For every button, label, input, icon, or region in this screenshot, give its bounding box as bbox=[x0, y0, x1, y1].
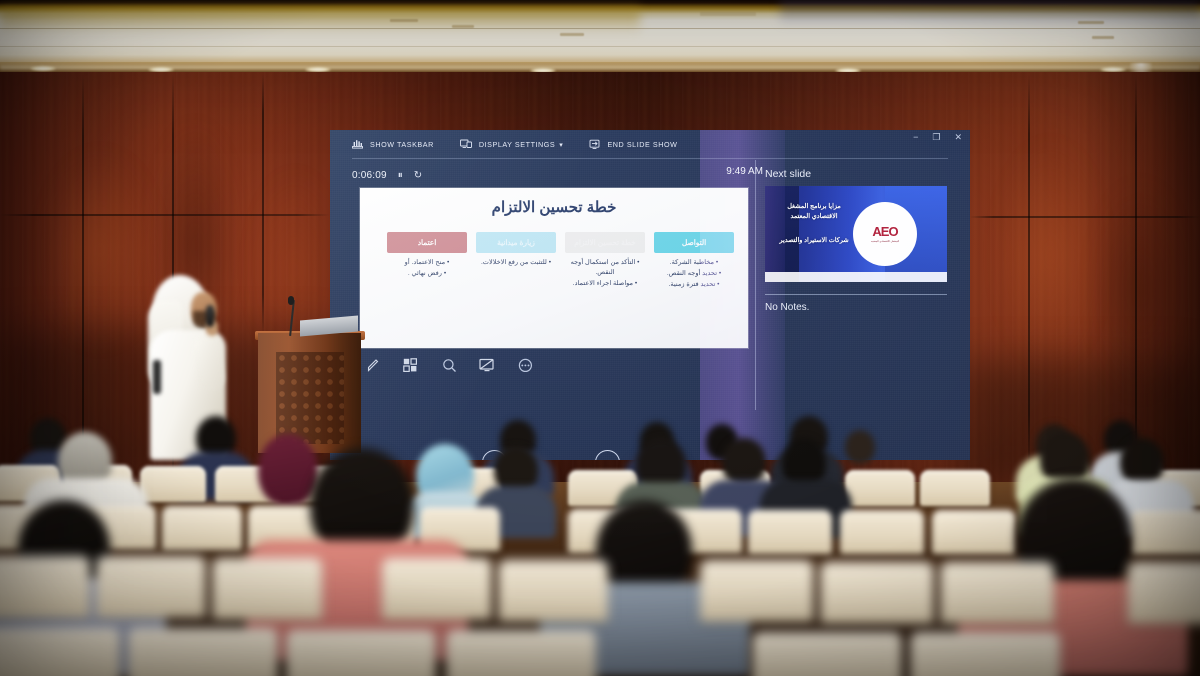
show-taskbar-label: SHOW TASKBAR bbox=[370, 140, 434, 149]
seat bbox=[748, 510, 832, 554]
seat bbox=[0, 556, 90, 618]
column-header: خطة تحسين الالتزام bbox=[565, 232, 645, 253]
column-header: التواصل bbox=[654, 232, 734, 253]
thumb-footer-band bbox=[765, 272, 947, 282]
timer-row: 0:06:09 ⏸ ↻ 9:49 AM bbox=[352, 166, 948, 184]
seat bbox=[820, 562, 934, 624]
current-slide[interactable]: خطة تحسين الالتزام التواصل مخاطبة الشركة… bbox=[360, 188, 748, 348]
seat bbox=[700, 560, 814, 622]
seat bbox=[920, 470, 990, 506]
seat bbox=[162, 506, 242, 550]
bullet: منح الاعتماد. أو bbox=[387, 258, 467, 268]
end-show-icon bbox=[589, 139, 600, 150]
pen-icon[interactable] bbox=[366, 358, 381, 373]
seat bbox=[910, 632, 1060, 676]
seat bbox=[940, 562, 1054, 624]
show-taskbar-button[interactable]: SHOW TASKBAR bbox=[352, 139, 434, 149]
magnify-icon[interactable] bbox=[442, 358, 457, 373]
ceiling-seam bbox=[0, 28, 1200, 29]
next-slide-line2: شركات الاستيراد والتصدير bbox=[777, 236, 851, 246]
close-button[interactable]: ✕ bbox=[954, 133, 962, 142]
ceiling-slot bbox=[1078, 21, 1104, 24]
seat bbox=[0, 628, 120, 676]
restore-button[interactable]: ❐ bbox=[932, 133, 940, 142]
seat bbox=[840, 510, 924, 554]
ceiling-slot bbox=[390, 19, 418, 22]
restart-timer-button[interactable]: ↻ bbox=[414, 170, 422, 181]
bullet: مخاطبة الشركة. bbox=[654, 258, 734, 268]
ceiling-cool-reflection bbox=[780, 0, 1200, 26]
column-body: التأكد من استكمال أوجه النقص. مواصلة اجر… bbox=[565, 258, 645, 290]
ceiling-downlight bbox=[30, 66, 56, 71]
speaker-badge bbox=[153, 360, 161, 394]
ceiling-warm-reflection bbox=[0, 2, 640, 36]
audience-head bbox=[722, 438, 766, 486]
next-slide-line1: مزايا برنامج المشغل الاقتصادي المعتمد bbox=[777, 202, 851, 221]
column-body: للتثبت من رفع الاخلالات. bbox=[476, 258, 556, 268]
next-slide-thumbnail[interactable]: مزايا برنامج المشغل الاقتصادي المعتمد شر… bbox=[765, 186, 947, 282]
panel-divider bbox=[755, 160, 756, 410]
notes-text: No Notes. bbox=[765, 302, 809, 313]
seat bbox=[1130, 510, 1200, 554]
audience-head bbox=[845, 430, 875, 464]
logo-subtitle: المشغل الاقتصادي المعتمد bbox=[871, 240, 899, 243]
presenter-command-bar: SHOW TASKBAR DISPLAY SETTINGS ▾ END SLID… bbox=[330, 130, 970, 158]
presenter-tools bbox=[366, 358, 533, 373]
slide-title: خطة تحسين الالتزام bbox=[360, 198, 748, 216]
seat bbox=[932, 510, 1016, 554]
slide-column: خطة تحسين الالتزام التأكد من استكمال أوج… bbox=[565, 232, 645, 292]
bullet: تحديد فترة زمنية. bbox=[654, 280, 734, 290]
notes-divider bbox=[765, 294, 947, 295]
command-bar-divider bbox=[352, 158, 948, 159]
seat bbox=[212, 558, 322, 620]
seat bbox=[128, 628, 278, 676]
bullet: التأكد من استكمال أوجه النقص. bbox=[565, 258, 645, 278]
slide-column: التواصل مخاطبة الشركة. تحديد أوجه النقص.… bbox=[654, 232, 734, 292]
window-controls: − ❐ ✕ bbox=[913, 133, 962, 142]
handheld-microphone bbox=[206, 305, 214, 327]
thumb-band bbox=[765, 186, 799, 282]
column-body: منح الاعتماد. أو رفض نهائي . bbox=[387, 258, 467, 279]
seat bbox=[752, 632, 902, 676]
column-body: مخاطبة الشركة. تحديد أوجه النقص. تحديد ف… bbox=[654, 258, 734, 291]
next-arrow-icon: › bbox=[606, 457, 609, 460]
podium-shading bbox=[258, 333, 361, 453]
display-icon bbox=[460, 139, 472, 150]
ceiling-slot bbox=[1092, 36, 1114, 39]
bullet: تحديد أوجه النقص. bbox=[654, 269, 734, 279]
powerpoint-presenter-view[interactable]: SHOW TASKBAR DISPLAY SETTINGS ▾ END SLID… bbox=[330, 130, 970, 460]
all-slides-icon[interactable] bbox=[403, 358, 420, 373]
end-slide-show-button[interactable]: END SLIDE SHOW bbox=[589, 139, 677, 150]
elapsed-timer: 0:06:09 bbox=[352, 170, 387, 181]
ceiling-slot bbox=[452, 25, 474, 28]
screenshot-root: SHOW TASKBAR DISPLAY SETTINGS ▾ END SLID… bbox=[0, 0, 1200, 676]
slide-column: زيارة ميدانية للتثبت من رفع الاخلالات. bbox=[476, 232, 556, 292]
chevron-down-icon: ▾ bbox=[559, 140, 563, 149]
ceiling-slot bbox=[700, 12, 756, 16]
bullet: للتثبت من رفع الاخلالات. bbox=[476, 258, 556, 268]
minimize-button[interactable]: − bbox=[913, 133, 918, 142]
seat bbox=[446, 630, 596, 676]
slide-columns: التواصل مخاطبة الشركة. تحديد أوجه النقص.… bbox=[374, 232, 734, 292]
next-slide-button[interactable]: › bbox=[595, 450, 620, 460]
audience-head-burgundy-hair bbox=[258, 434, 318, 506]
audience-head bbox=[1120, 438, 1164, 486]
column-header: زيارة ميدانية bbox=[476, 232, 556, 253]
aeo-logo: AEO المشغل الاقتصادي المعتمد bbox=[853, 202, 917, 266]
seat bbox=[140, 466, 206, 502]
column-header: اعتماد bbox=[387, 232, 467, 253]
clock: 9:49 AM bbox=[726, 166, 763, 177]
ceiling-slot bbox=[560, 33, 584, 36]
next-slide-label: Next slide bbox=[765, 168, 811, 180]
seat bbox=[382, 558, 492, 620]
logo-mark: AEO bbox=[872, 225, 897, 238]
more-options-icon[interactable] bbox=[518, 358, 533, 373]
slide-column: اعتماد منح الاعتماد. أو رفض نهائي . bbox=[387, 232, 467, 292]
end-slide-show-label: END SLIDE SHOW bbox=[607, 140, 677, 149]
ceiling-seam bbox=[0, 46, 1200, 47]
bullet: رفض نهائي . bbox=[387, 269, 467, 279]
taskbar-icon bbox=[352, 139, 363, 149]
podium-mic-head bbox=[288, 296, 294, 305]
pause-timer-button[interactable]: ⏸ bbox=[398, 170, 403, 181]
seat bbox=[498, 560, 608, 622]
bullet: مواصلة اجراء الاعتماد. bbox=[565, 279, 645, 289]
seat bbox=[1128, 562, 1200, 624]
seat bbox=[96, 556, 206, 618]
black-screen-icon[interactable] bbox=[479, 358, 496, 373]
seat bbox=[286, 630, 436, 676]
display-settings-label: DISPLAY SETTINGS bbox=[479, 140, 555, 149]
display-settings-button[interactable]: DISPLAY SETTINGS ▾ bbox=[460, 139, 564, 150]
seat bbox=[845, 470, 915, 506]
